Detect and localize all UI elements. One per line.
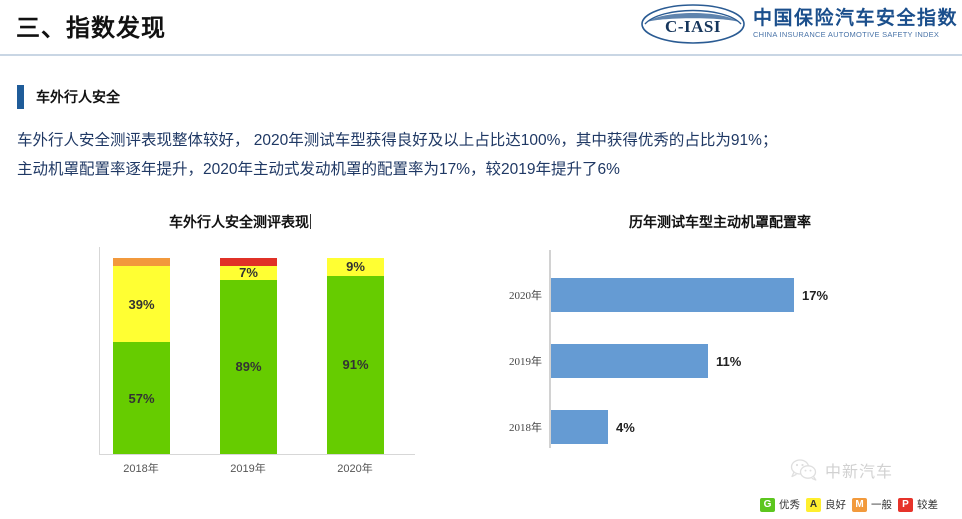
segment-2020-a: 9%: [327, 258, 384, 276]
chart-left-title: 车外行人安全测评表现: [90, 212, 390, 232]
x-label-2018: 2018年: [106, 460, 176, 476]
stacked-bar-2019: 7% 89%: [220, 258, 277, 454]
section-paragraph: 车外行人安全测评表现整体较好， 2020年测试车型获得良好及以上占比达100%，…: [17, 126, 947, 184]
hbar-value-2020: 17%: [802, 288, 828, 303]
brand-logo: C-IASI 中国保险汽车安全指数 CHINA INSURANCE AUTOMO…: [639, 2, 958, 46]
stacked-bar-2018: 39% 57%: [113, 258, 170, 454]
legend-label-g: 优秀: [779, 497, 800, 512]
segment-2018-m: [113, 258, 170, 266]
hbar-2019: [551, 344, 708, 378]
brand-name-en: CHINA INSURANCE AUTOMOTIVE SAFETY INDEX: [753, 31, 958, 39]
rating-legend: G 优秀 A 良好 M 一般 P 较差: [760, 497, 938, 512]
slide-header: 三、指数发现 C-IASI 中国保险汽车安全指数 CHINA INSURANCE…: [0, 0, 962, 55]
legend-item-m: M 一般: [852, 497, 892, 512]
legend-label-p: 较差: [917, 497, 938, 512]
chart-left-y-axis: [99, 247, 100, 455]
chart-left-x-labels: 2018年 2019年 2020年: [90, 460, 420, 478]
wechat-icon: [790, 458, 818, 482]
segment-2020-g: 91%: [327, 276, 384, 454]
hbar-category-2019: 2019年: [480, 353, 542, 369]
hbar-row-2018: 2018年 4%: [480, 410, 950, 444]
legend-chip-g: G: [760, 498, 775, 512]
brand-text: 中国保险汽车安全指数 CHINA INSURANCE AUTOMOTIVE SA…: [753, 9, 958, 39]
legend-chip-m: M: [852, 498, 867, 512]
legend-chip-p: P: [898, 498, 913, 512]
legend-label-a: 良好: [825, 497, 846, 512]
hbar-category-2018: 2018年: [480, 419, 542, 435]
hbar-2020: [551, 278, 794, 312]
svg-text:C-IASI: C-IASI: [665, 17, 721, 36]
chart-active-hood-rate: 历年测试车型主动机罩配置率 2020年 17% 2019年 11% 2018年 …: [480, 212, 950, 477]
hbar-row-2019: 2019年 11%: [480, 344, 950, 378]
ciasi-emblem-icon: C-IASI: [639, 2, 747, 46]
section-accent-bar: [17, 85, 24, 109]
chart-left-plot: 39% 57% 7% 89% 9% 91%: [90, 247, 420, 455]
text-caret-icon: [310, 214, 311, 229]
hbar-value-2019: 11%: [716, 354, 741, 369]
section-title: 车外行人安全: [36, 87, 120, 107]
legend-item-p: P 较差: [898, 497, 938, 512]
x-label-2019: 2019年: [213, 460, 283, 476]
segment-2019-a: 7%: [220, 266, 277, 280]
legend-label-m: 一般: [871, 497, 892, 512]
segment-2018-a: 39%: [113, 266, 170, 342]
page-title: 三、指数发现: [16, 8, 166, 43]
slide-root: 三、指数发现 C-IASI 中国保险汽车安全指数 CHINA INSURANCE…: [0, 0, 962, 519]
legend-item-g: G 优秀: [760, 497, 800, 512]
paragraph-line-2: 主动机罩配置率逐年提升，2020年主动式发动机罩的配置率为17%，较2019年提…: [17, 155, 947, 184]
header-divider: [0, 54, 962, 56]
chart-right-plot: 2020年 17% 2019年 11% 2018年 4%: [480, 250, 950, 458]
watermark-text: 中新汽车: [825, 458, 893, 482]
legend-chip-a: A: [806, 498, 821, 512]
legend-item-a: A 良好: [806, 497, 846, 512]
segment-2019-g: 89%: [220, 280, 277, 454]
chart-pedestrian-safety: 车外行人安全测评表现 39% 57% 7% 89% 9% 91%: [90, 212, 430, 477]
brand-name-cn: 中国保险汽车安全指数: [753, 9, 958, 28]
x-label-2020: 2020年: [320, 460, 390, 476]
watermark: 中新汽车: [790, 458, 893, 482]
stacked-bar-2020: 9% 91%: [327, 258, 384, 454]
segment-2018-g: 57%: [113, 342, 170, 454]
hbar-value-2018: 4%: [616, 420, 635, 435]
chart-left-x-axis: [99, 454, 415, 455]
paragraph-line-1: 车外行人安全测评表现整体较好， 2020年测试车型获得良好及以上占比达100%，…: [17, 126, 947, 155]
hbar-category-2020: 2020年: [480, 287, 542, 303]
hbar-row-2020: 2020年 17%: [480, 278, 950, 312]
chart-right-title: 历年测试车型主动机罩配置率: [510, 212, 930, 232]
hbar-2018: [551, 410, 608, 444]
chart-left-title-text: 车外行人安全测评表现: [169, 214, 309, 230]
